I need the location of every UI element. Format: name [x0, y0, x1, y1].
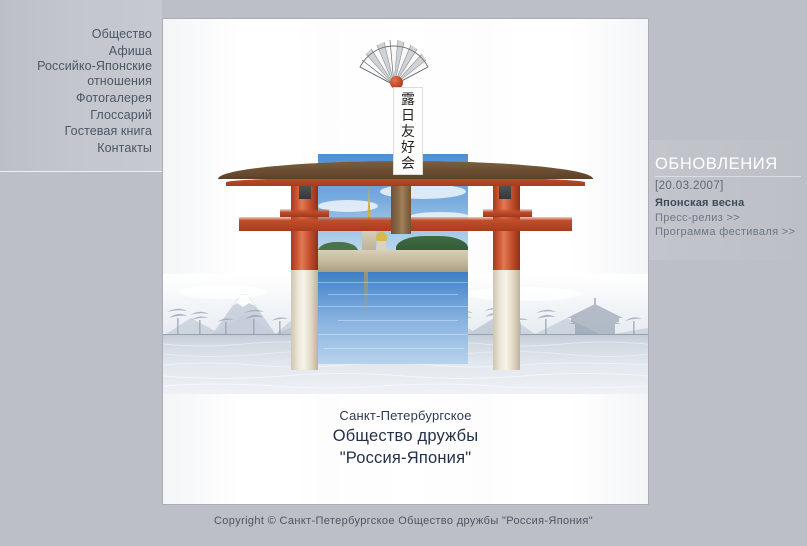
title-line-1: Санкт-Петербургское [163, 407, 648, 425]
sidebar-item-obshchestvo[interactable]: Общество [0, 26, 162, 43]
update-headline: Японская весна [655, 196, 744, 210]
torii-shim-right [483, 209, 532, 217]
sidebar-item-contacts[interactable]: Контакты [0, 140, 162, 157]
sidebar-item-afisha[interactable]: Афиша [0, 43, 162, 60]
title-line-2: Общество дружбы [163, 425, 648, 447]
updates-panel: ОБНОВЛЕНИЯ [20.03.2007] Японская весна П… [648, 140, 807, 260]
torii-pillar-right [493, 174, 520, 370]
pillar-lower [291, 270, 318, 370]
kanji-banner: 露 日 友 好 会 [393, 87, 423, 175]
kanji-ro: 露 [401, 93, 415, 108]
sidebar-item-guestbook[interactable]: Гостевая книга [0, 123, 162, 140]
hero-artwork: 露 日 友 好 会 Санкт-Петербургское Общество д… [163, 19, 648, 504]
sidebar-item-relations[interactable]: Российко-Японские отношения [0, 59, 162, 90]
updates-heading: ОБНОВЛЕНИЯ [655, 155, 778, 173]
pillar-lower [493, 270, 520, 370]
sidebar-item-photogallery[interactable]: Фотогалерея [0, 90, 162, 107]
kanji-yu: 友 [401, 125, 415, 140]
sidebar-navigation: Общество Афиша Российко-Японские отношен… [0, 0, 162, 172]
kanji-nichi: 日 [401, 109, 415, 124]
kanji-kai: 会 [401, 157, 415, 172]
update-link-festival-program[interactable]: Программа фестиваля >> [655, 225, 795, 239]
sidebar-item-glossary[interactable]: Глоссарий [0, 107, 162, 124]
footer-copyright: Copyright © Санкт-Петербургское Общество… [0, 514, 807, 528]
title-line-3: "Россия-Япония" [163, 447, 648, 469]
torii-brace-right [499, 186, 511, 199]
torii-pillar-left [291, 174, 318, 370]
page-root: Общество Афиша Российко-Японские отношен… [0, 0, 807, 546]
kanji-ko: 好 [401, 141, 415, 156]
update-link-press-release[interactable]: Пресс-релиз >> [655, 211, 740, 225]
updates-divider [655, 176, 801, 177]
main-content-card: 露 日 友 好 会 Санкт-Петербургское Общество д… [162, 18, 649, 505]
torii-brace-left [299, 186, 311, 199]
torii-shim-left [280, 209, 329, 217]
nav-list: Общество Афиша Российко-Японские отношен… [0, 26, 162, 156]
site-title: Санкт-Петербургское Общество дружбы "Рос… [163, 407, 648, 469]
update-date: [20.03.2007] [655, 179, 724, 193]
torii-gakuzuka [391, 179, 411, 234]
